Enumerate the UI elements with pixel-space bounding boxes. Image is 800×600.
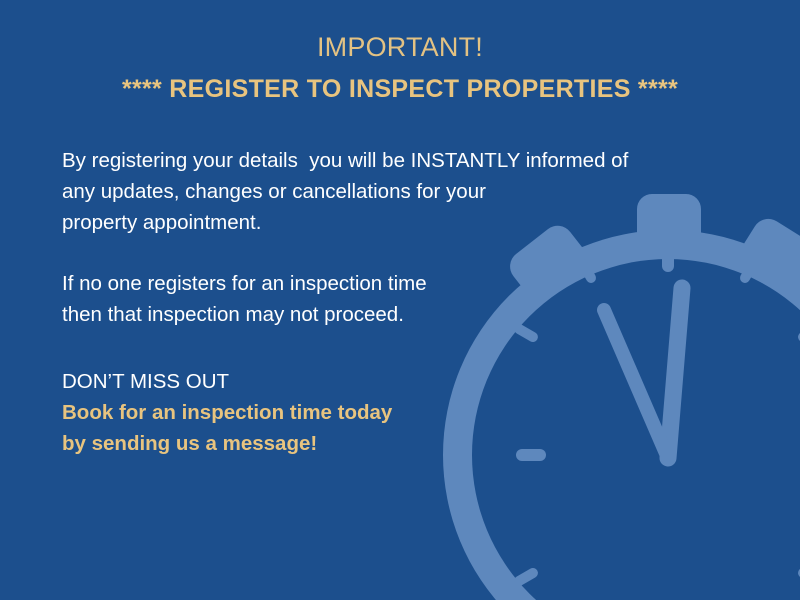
paragraph-inspection-warning-line-1: If no one registers for an inspection ti… <box>62 268 722 299</box>
paragraph-inspection-warning-line-2: then that inspection may not proceed. <box>62 299 722 330</box>
paragraph-registering-line-2: any updates, changes or cancellations fo… <box>62 176 722 207</box>
cta-book-line: Book for an inspection time today <box>62 397 722 428</box>
paragraph-registering-line-1: By registering your details you will be … <box>62 145 722 176</box>
paragraph-inspection-warning: If no one registers for an inspection ti… <box>62 268 722 330</box>
paragraph-registering-line-3: property appointment. <box>62 207 722 238</box>
page-title: IMPORTANT! <box>0 30 800 64</box>
title-block: IMPORTANT! **** REGISTER TO INSPECT PROP… <box>0 30 800 105</box>
slide-content: IMPORTANT! **** REGISTER TO INSPECT PROP… <box>0 0 800 600</box>
paragraph-spacer-2 <box>62 356 722 366</box>
page-subtitle: **** REGISTER TO INSPECT PROPERTIES **** <box>0 73 800 105</box>
cta-headline: DON’T MISS OUT <box>62 366 722 397</box>
paragraph-registering: By registering your details you will be … <box>62 145 722 238</box>
paragraph-call-to-action: DON’T MISS OUT Book for an inspection ti… <box>62 366 722 459</box>
slide-canvas: IMPORTANT! **** REGISTER TO INSPECT PROP… <box>0 0 800 600</box>
body-text-block: By registering your details you will be … <box>62 145 722 459</box>
cta-message-line: by sending us a message! <box>62 428 722 459</box>
